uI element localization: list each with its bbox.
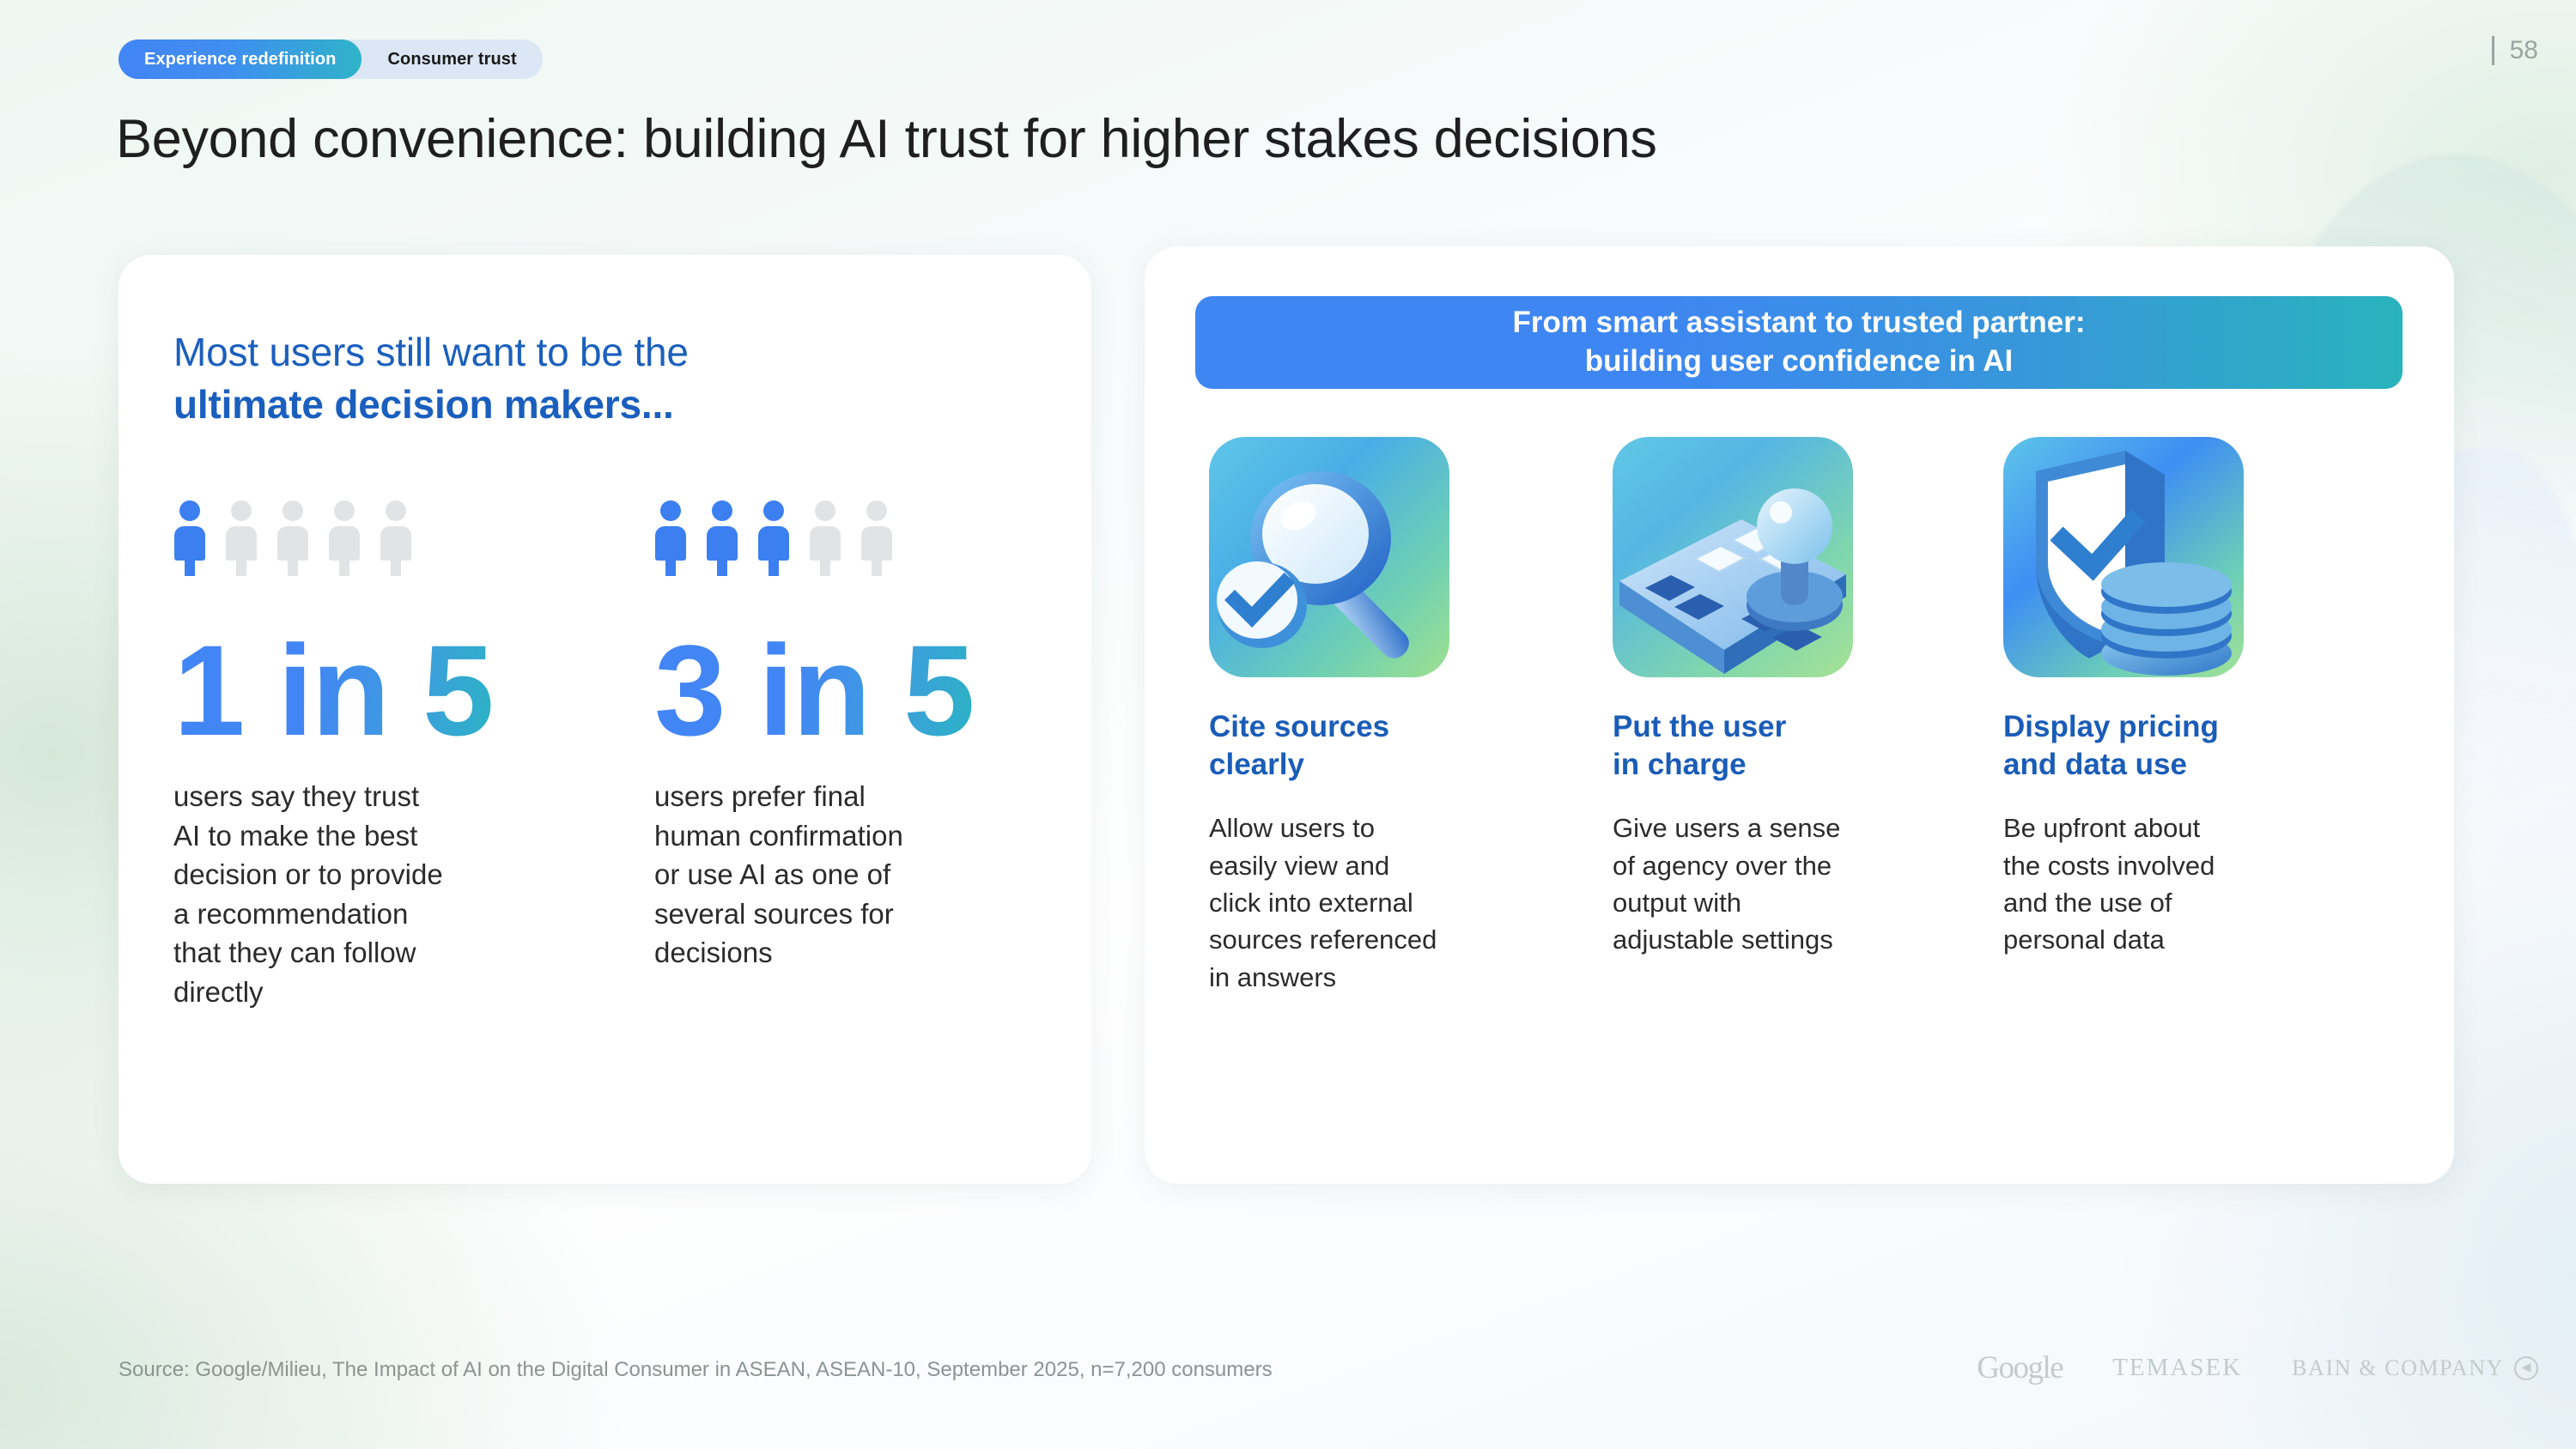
source-note: Source: Google/Milieu, The Impact of AI … (118, 1358, 1273, 1382)
page-number: 58 (2492, 36, 2538, 65)
temasek-logo: TEMASEK (2112, 1354, 2242, 1382)
person-icon (809, 500, 841, 576)
recommendation-body-1: Allow users to easily view and click int… (1209, 809, 1535, 996)
pictogram-group-2 (654, 494, 1041, 576)
recommendation-title-3: Display pricing and data use (2003, 708, 2330, 784)
right-recommendations-card: From smart assistant to trusted partner:… (1145, 246, 2454, 1184)
stat-block-1: 1 in 5 users say they trust AI to make t… (173, 494, 654, 1011)
tab-experience-redefinition[interactable]: Experience redefinition (118, 39, 361, 79)
recommendation-body-3: Be upfront about the costs involved and … (2003, 809, 2330, 959)
person-icon (706, 500, 738, 576)
stat-value-1: 1 in 5 (173, 626, 493, 755)
tab-consumer-trust[interactable]: Consumer trust (361, 39, 542, 79)
person-icon (860, 500, 893, 576)
person-icon (654, 500, 687, 576)
pictogram-group-1 (173, 494, 654, 576)
magnifying-glass-check-icon (1209, 437, 1449, 677)
recommendation-column-3: Display pricing and data use Be upfront … (2003, 437, 2330, 996)
recommendation-columns: Cite sources clearly Allow users to easi… (1209, 437, 2330, 996)
bain-logo: BAIN & COMPANY ◀ (2292, 1355, 2538, 1381)
person-icon (173, 500, 206, 576)
person-icon (380, 500, 412, 576)
left-card-heading-line2: ultimate decision makers... (173, 379, 689, 431)
left-card-heading-line1: Most users still want to be the (173, 326, 689, 379)
stats-row: 1 in 5 users say they trust AI to make t… (173, 494, 1041, 1011)
person-icon (328, 500, 361, 576)
page-title: Beyond convenience: building AI trust fo… (116, 108, 1657, 170)
page-number-divider (2492, 36, 2494, 65)
stat-block-2: 3 in 5 users prefer final human confirma… (654, 494, 1041, 1011)
left-stats-card: Most users still want to be the ultimate… (118, 255, 1091, 1184)
right-card-banner: From smart assistant to trusted partner:… (1195, 296, 2403, 389)
joystick-control-panel-icon (1613, 437, 1853, 677)
bain-circle-mark-icon: ◀ (2514, 1356, 2538, 1380)
shield-coins-icon (2003, 437, 2244, 677)
recommendation-title-2: Put the user in charge (1613, 708, 1926, 784)
recommendation-title-1: Cite sources clearly (1209, 708, 1535, 784)
person-icon (225, 500, 258, 576)
section-tabs: Experience redefinition Consumer trust (118, 39, 543, 79)
person-icon (757, 500, 790, 576)
recommendation-column-1: Cite sources clearly Allow users to easi… (1209, 437, 1535, 996)
recommendation-body-2: Give users a sense of agency over the ou… (1613, 809, 1926, 959)
left-card-heading: Most users still want to be the ultimate… (173, 326, 689, 431)
recommendation-column-2: Put the user in charge Give users a sens… (1613, 437, 1926, 996)
stat-description-1: users say they trust AI to make the best… (173, 777, 654, 1011)
google-logo: Google (1977, 1349, 2063, 1386)
page-number-value: 58 (2510, 36, 2538, 65)
bain-logo-text: BAIN & COMPANY (2292, 1355, 2504, 1381)
stat-value-2: 3 in 5 (654, 626, 974, 755)
partner-logos: Google TEMASEK BAIN & COMPANY ◀ (1977, 1349, 2538, 1386)
stat-description-2: users prefer final human confirmation or… (654, 777, 1041, 973)
person-icon (276, 500, 309, 576)
